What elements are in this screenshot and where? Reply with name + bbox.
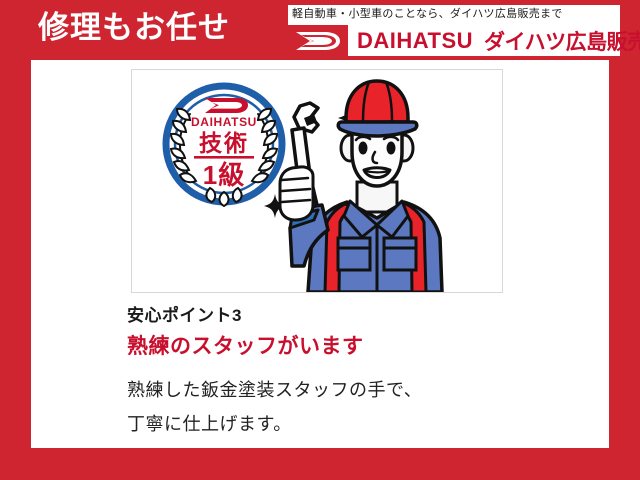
cap xyxy=(346,81,408,122)
point-body-line-1: 熟練した鈑金塗装スタッフの手で、 xyxy=(127,373,567,407)
tagline: 軽自動車・小型車のことなら、ダイハツ広島販売まで xyxy=(292,6,563,23)
dealer-name: ダイハツ広島販売 xyxy=(484,26,640,56)
dealer-logo-block: 軽自動車・小型車のことなら、ダイハツ広島販売まで DAIHATSU ダイハツ広島… xyxy=(288,5,620,56)
svg-text:1級: 1級 xyxy=(203,160,245,190)
headline: 修理もお任せ xyxy=(38,8,230,48)
mechanic-illustration: DAIHATSU 技術 1級 xyxy=(132,70,502,292)
technician-badge: DAIHATSU 技術 1級 xyxy=(166,86,282,206)
banner-header: 修理もお任せ 軽自動車・小型車のことなら、ダイハツ広島販売まで DAIHATSU… xyxy=(0,0,640,60)
point-title: 熟練のスタッフがいます xyxy=(127,331,567,363)
brand-wordmark: DAIHATSU xyxy=(357,28,473,54)
svg-text:DAIHATSU: DAIHATSU xyxy=(191,115,257,129)
point-label: 安心ポイント3 xyxy=(127,303,567,329)
cap-brim xyxy=(338,122,416,136)
illustration-frame: DAIHATSU 技術 1級 xyxy=(131,69,503,293)
daihatsu-d-mark-icon xyxy=(288,25,348,56)
svg-text:技術: 技術 xyxy=(199,130,249,156)
logo-row: DAIHATSU ダイハツ広島販売 xyxy=(288,25,620,56)
point-body-line-2: 丁寧に仕上げます。 xyxy=(127,407,567,441)
content-panel: DAIHATSU 技術 1級 xyxy=(31,60,609,448)
point-body: 熟練した鈑金塗装スタッフの手で、 丁寧に仕上げます。 xyxy=(127,373,567,441)
text-block: 安心ポイント3 熟練のスタッフがいます 熟練した鈑金塗装スタッフの手で、 丁寧に… xyxy=(127,303,567,441)
promo-banner: 修理もお任せ 軽自動車・小型車のことなら、ダイハツ広島販売まで DAIHATSU… xyxy=(0,0,640,480)
